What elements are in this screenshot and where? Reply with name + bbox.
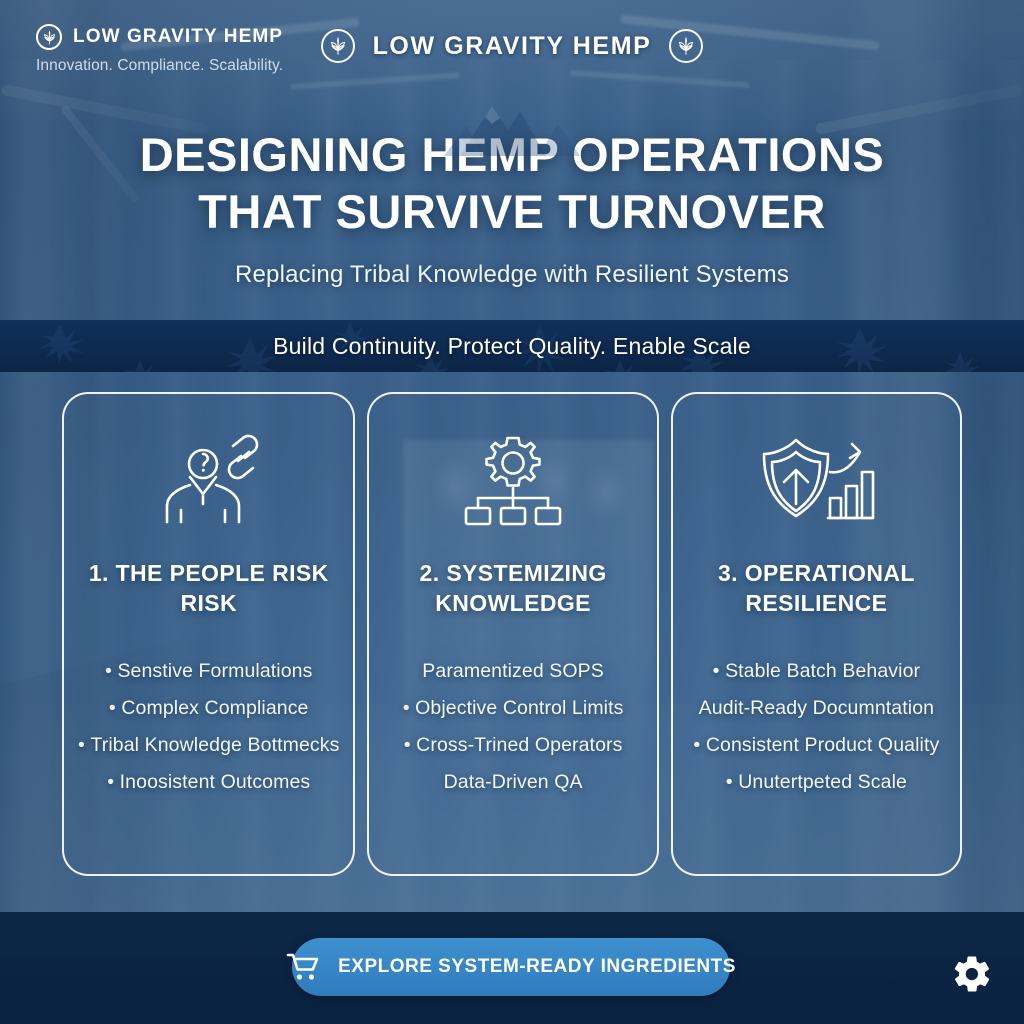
- tagline-banner: Build Continuity. Protect Quality. Enabl…: [0, 320, 1024, 372]
- list-item: Senstive Formulations: [78, 660, 339, 683]
- shopping-cart-icon: [286, 952, 320, 982]
- explore-ingredients-button[interactable]: EXPLORE SYSTEM-READY INGREDIENTS: [292, 938, 730, 996]
- page-subtitle: Replacing Tribal Knowledge with Resilien…: [0, 261, 1024, 289]
- card-title: 2. SYSTEMIZING KNOWLEDGE: [383, 558, 642, 624]
- list-item: Consistent Product Quality: [687, 734, 946, 757]
- card-bullet-list: Senstive Formulations Complex Compliance…: [78, 660, 339, 794]
- gear-hierarchy-icon: [460, 428, 566, 532]
- settings-button[interactable]: [948, 950, 996, 998]
- list-item: Complex Compliance: [78, 697, 339, 720]
- list-item: Tribal Knowledge Bottmecks: [78, 734, 339, 757]
- card-title: 1. THE PEOPLE RISK RISK: [78, 558, 339, 624]
- mountain-icon: [442, 90, 582, 160]
- card-operational-resilience: 3. OPERATIONAL RESILIENCE Stable Batch B…: [671, 392, 962, 876]
- brand-name: LOW GRAVITY HEMP: [373, 32, 652, 61]
- brand-header: LOW GRAVITY HEMP: [0, 0, 1024, 92]
- card-people-risk: 1. THE PEOPLE RISK RISK Senstive Formula…: [62, 392, 355, 876]
- title-line-2: THAT SURVIVE TURNOVER: [70, 183, 954, 240]
- hero-section: DESIGNING HEMP OPERATIONS THAT SURVIVE T…: [0, 126, 1024, 289]
- list-item: Stable Batch Behavior: [687, 660, 946, 683]
- card-bullet-list: Stable Batch Behavior Audit-Ready Documn…: [687, 660, 946, 794]
- list-item: Inoosistent Outcomes: [78, 771, 339, 794]
- cards-row: 1. THE PEOPLE RISK RISK Senstive Formula…: [62, 392, 962, 876]
- cannabis-leaf-badge-icon: [669, 29, 703, 63]
- person-question-broken-link-icon: [153, 428, 265, 532]
- list-item: Cross-Trined Operators: [383, 734, 642, 757]
- shield-arrow-bar-chart-icon: [756, 428, 876, 532]
- card-title: 3. OPERATIONAL RESILIENCE: [687, 558, 946, 624]
- card-systemizing-knowledge: 2. SYSTEMIZING KNOWLEDGE Paramentized SO…: [367, 392, 658, 876]
- cta-label: EXPLORE SYSTEM-READY INGREDIENTS: [338, 956, 736, 978]
- infographic-poster: LOW GRAVITY HEMP DESIGNING HEMP OPERATIO…: [0, 0, 1024, 1024]
- card-bullet-list: Paramentized SOPS Objective Control Limi…: [383, 660, 642, 794]
- list-item: Unutertpeted Scale: [687, 771, 946, 794]
- list-item: Paramentized SOPS: [383, 660, 642, 683]
- tagline-text: Build Continuity. Protect Quality. Enabl…: [273, 333, 751, 360]
- list-item: Objective Control Limits: [383, 697, 642, 720]
- list-item: Data-Driven QA: [383, 771, 642, 794]
- cannabis-leaf-badge-icon: [321, 29, 355, 63]
- list-item: Audit-Ready Documntation: [687, 697, 946, 720]
- gear-icon: [951, 953, 993, 995]
